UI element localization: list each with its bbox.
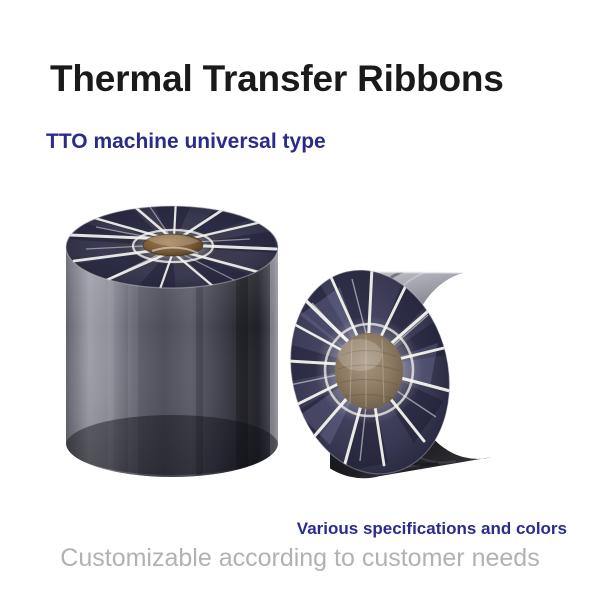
page-title: Thermal Transfer Ribbons <box>50 58 504 100</box>
product-banner: Thermal Transfer Ribbons TTO machine uni… <box>0 0 600 600</box>
subtitle: TTO machine universal type <box>46 130 326 154</box>
ribbon-roll-upright <box>60 195 285 490</box>
ribbon-roll-tilted <box>271 254 520 495</box>
tagline-customizable: Customizable according to customer needs <box>60 544 539 573</box>
product-photo <box>0 195 600 515</box>
tagline-specifications: Various specifications and colors <box>297 519 567 539</box>
